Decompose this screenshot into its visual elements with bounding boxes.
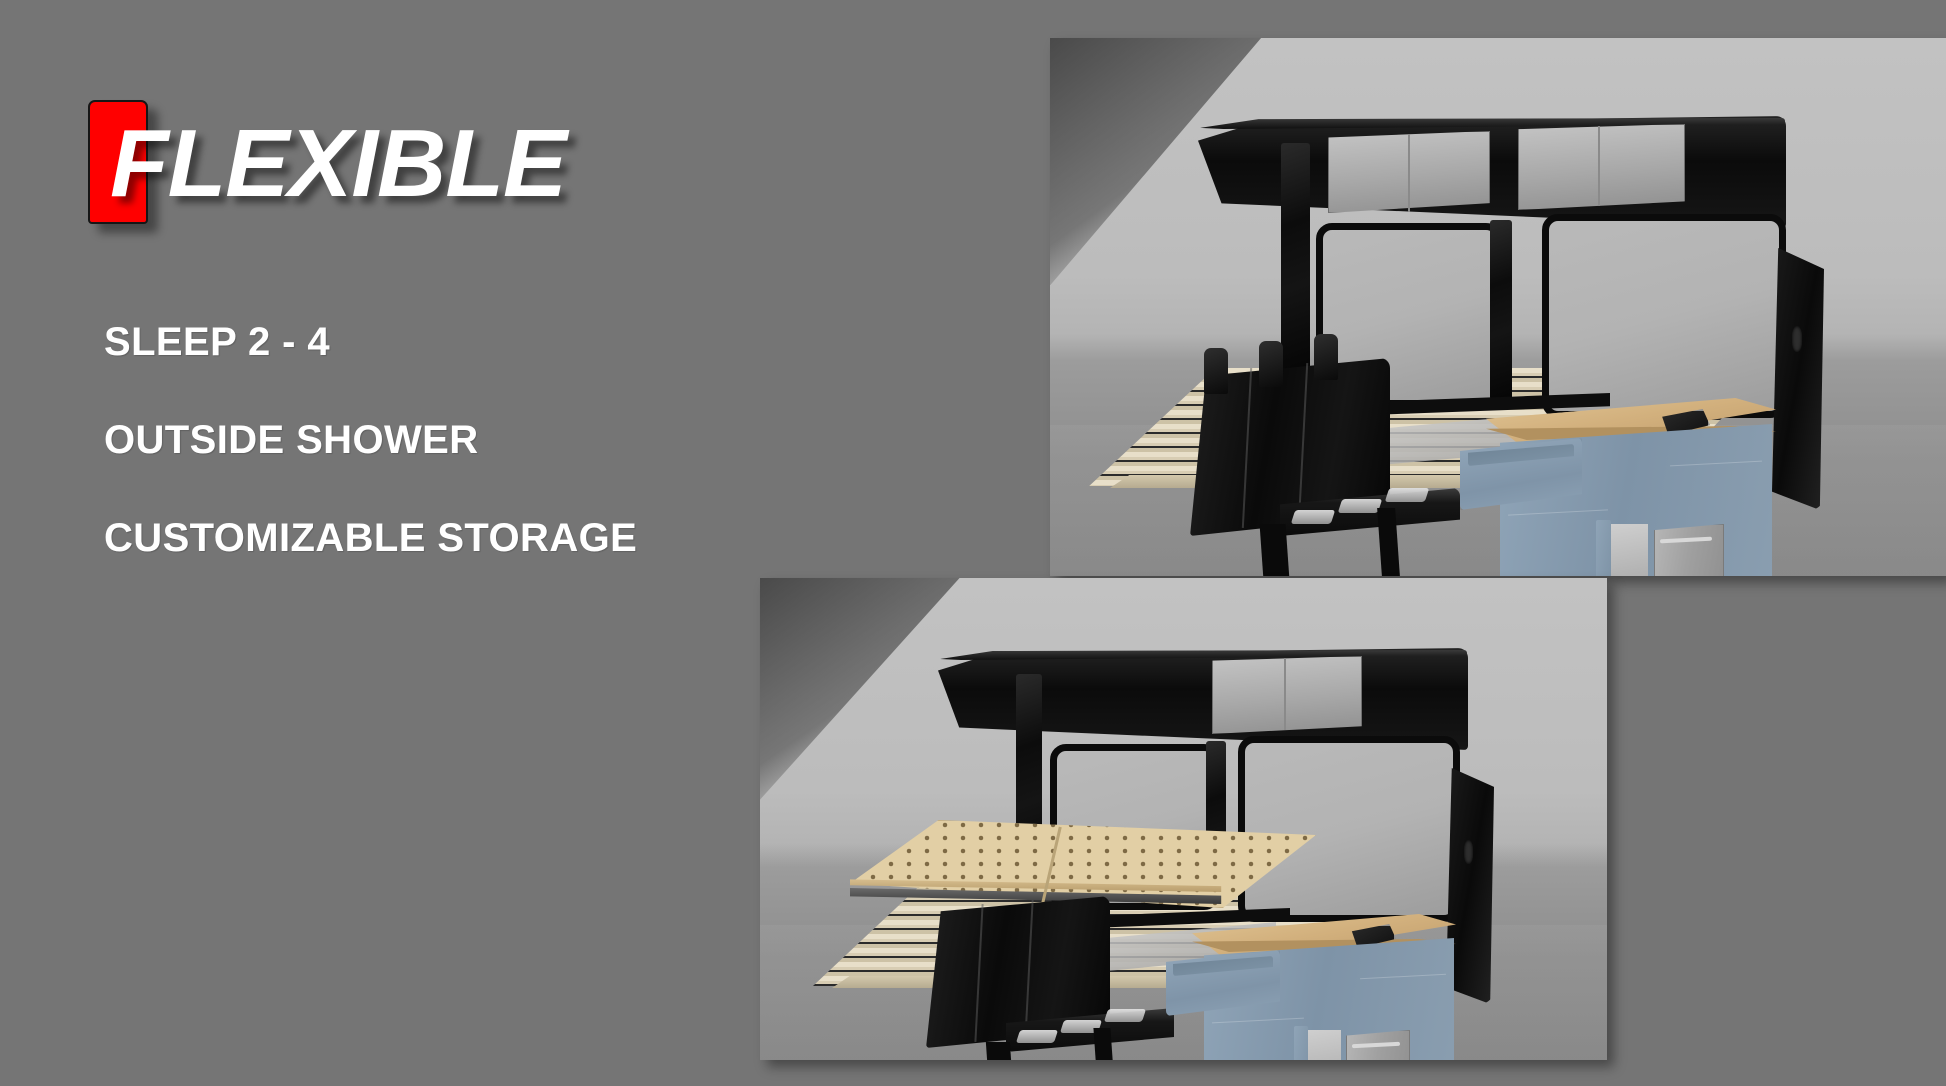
pillar-handle <box>1792 326 1802 352</box>
seat-cushion-1 <box>1291 510 1336 524</box>
van-shell-bed <box>760 578 1607 1060</box>
window-right <box>1238 736 1460 922</box>
page-title: FLEXIBLE <box>110 116 566 212</box>
headrest-2 <box>1259 341 1283 387</box>
galley-open-cavity <box>1608 524 1648 576</box>
fridge-drawer <box>1654 524 1724 576</box>
locker-divider-right <box>1598 126 1600 206</box>
van-shell-bench <box>1050 38 1946 576</box>
title-block: FLEXIBLE <box>88 96 708 236</box>
seat-cushion-2 <box>1338 499 1383 513</box>
seat-frame-leg-left <box>1260 524 1291 576</box>
seat-cushion-3 <box>1385 488 1430 502</box>
locker-divider-right <box>1284 658 1286 730</box>
render-image-bench-mode <box>1050 38 1946 576</box>
slide-canvas: FLEXIBLE SLEEP 2 - 4 OUTSIDE SHOWER CUST… <box>0 0 1946 1086</box>
galley-open-door <box>1596 520 1611 576</box>
seat-cushion-1 <box>1016 1030 1058 1043</box>
window-center-post <box>1490 220 1512 400</box>
feature-item-shower: OUTSIDE SHOWER <box>104 418 744 462</box>
headrest-3 <box>1314 334 1338 380</box>
rear-pillar <box>1772 248 1824 510</box>
seat-frame-leg-left <box>986 1042 1014 1060</box>
galley-open-door <box>1294 1026 1308 1060</box>
headrest-1 <box>1204 348 1228 394</box>
feature-list: SLEEP 2 - 4 OUTSIDE SHOWER CUSTOMIZABLE … <box>104 320 744 614</box>
seat-cushion-3 <box>1104 1009 1146 1022</box>
front-pillar <box>1281 143 1310 373</box>
render-image-bed-mode <box>760 578 1607 1060</box>
feature-item-storage: CUSTOMIZABLE STORAGE <box>104 516 744 560</box>
window-right <box>1542 214 1786 418</box>
locker-divider-left <box>1408 134 1410 212</box>
feature-item-sleep: SLEEP 2 - 4 <box>104 320 744 364</box>
overhead-locker-right <box>1212 656 1362 734</box>
pillar-handle <box>1464 840 1473 864</box>
overhead-locker-right <box>1518 124 1685 210</box>
galley-open-cavity <box>1305 1030 1341 1060</box>
